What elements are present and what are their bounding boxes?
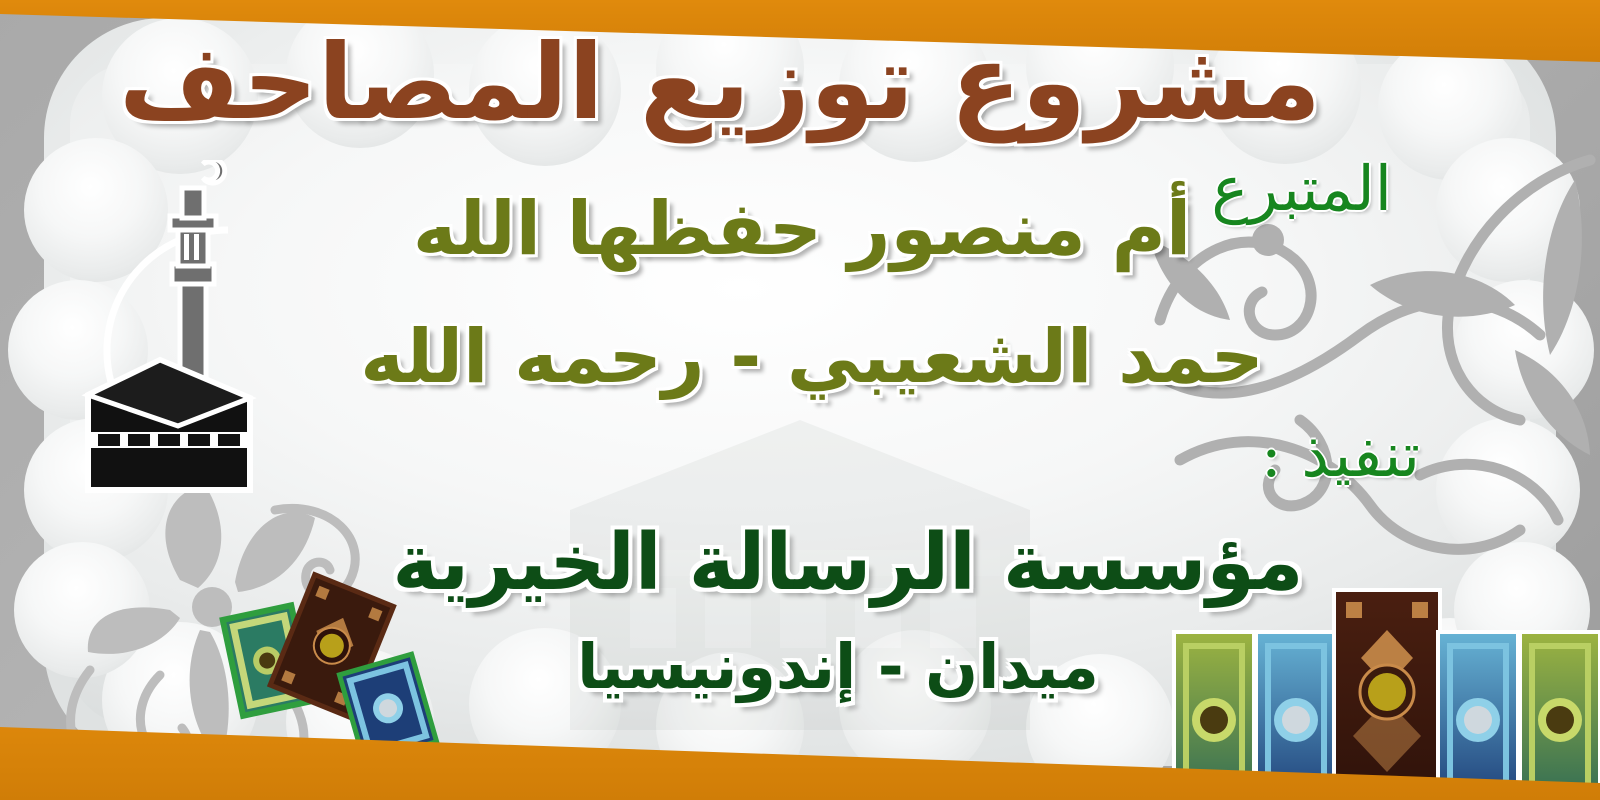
donor-name-line-2: حمد الشعيبي - رحمه الله xyxy=(282,320,1342,395)
donor-name-line-1: أم منصور حفظها الله xyxy=(272,192,1332,267)
quran-book-blue-right xyxy=(1436,630,1520,800)
kaaba-crescent-logo xyxy=(28,160,298,510)
organization-name: مؤسسة الرسالة الخيرية xyxy=(318,518,1378,608)
minaret-icon xyxy=(170,160,225,390)
organization-location: ميدان - إندونيسيا xyxy=(308,630,1368,703)
charity-banner: مشروع توزيع المصاحف المتبرع : أم منصور ح… xyxy=(0,0,1600,800)
quran-book-green-right xyxy=(1518,630,1600,800)
executor-label: تنفيذ : xyxy=(1261,418,1420,491)
